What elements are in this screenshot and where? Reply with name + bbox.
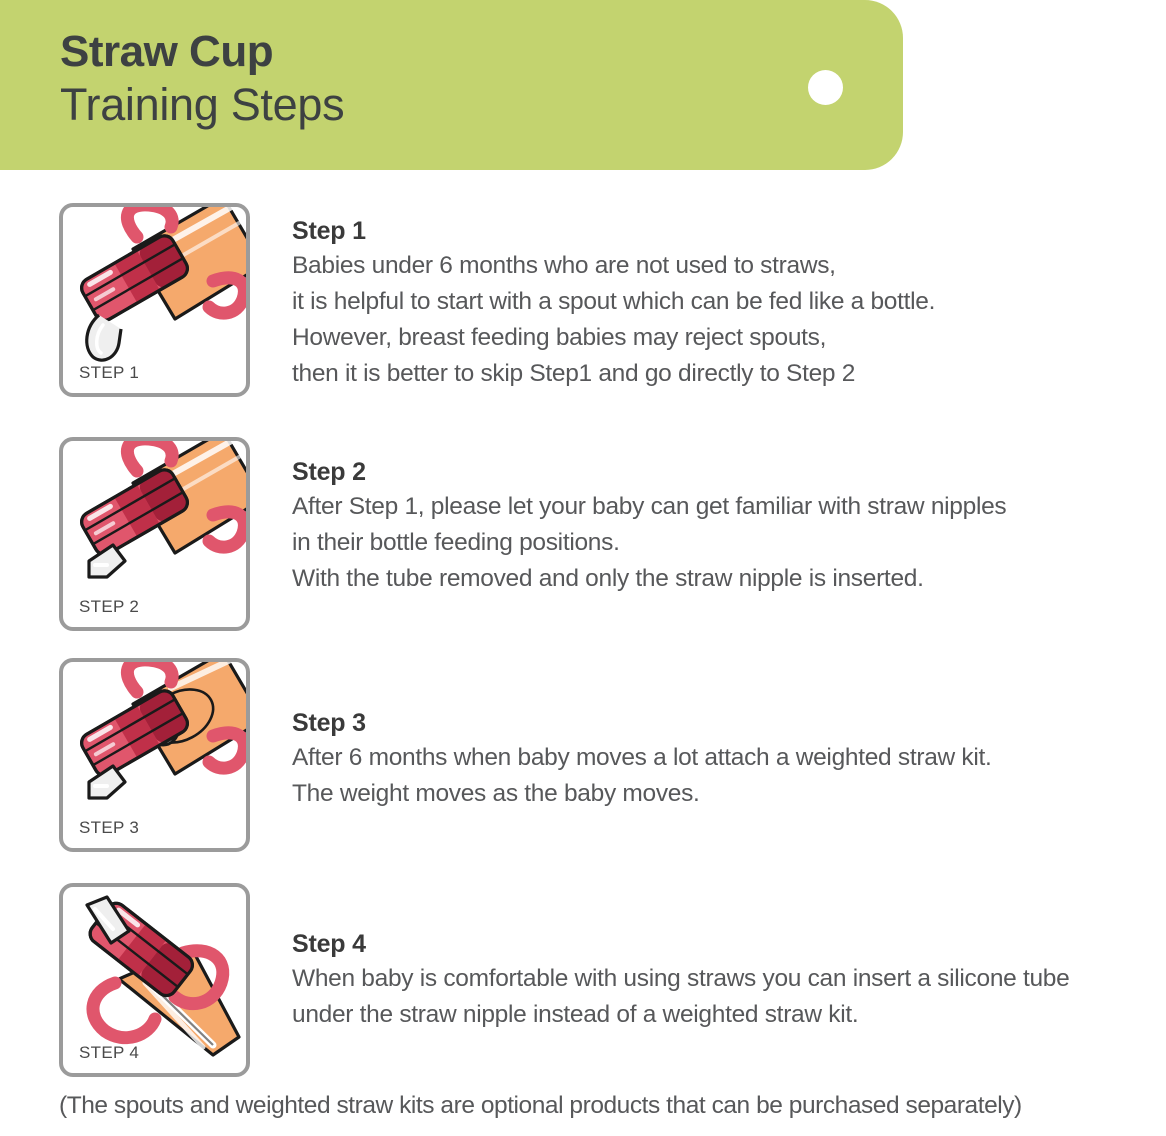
step-2-heading: Step 2 xyxy=(292,455,1006,489)
step-4-text-block: Step 4 When baby is comfortable with usi… xyxy=(292,927,1069,1033)
step-4-line: When baby is comfortable with using stra… xyxy=(292,961,1069,997)
step-3-text-block: Step 3 After 6 months when baby moves a … xyxy=(292,706,992,812)
page-subtitle: Training Steps xyxy=(60,78,344,132)
step-3-line: The weight moves as the baby moves. xyxy=(292,776,992,812)
step-1-line: it is helpful to start with a spout whic… xyxy=(292,284,935,320)
step-3-line: After 6 months when baby moves a lot att… xyxy=(292,740,992,776)
banner-title-group: Straw Cup Training Steps xyxy=(60,26,344,132)
step-1-line: However, breast feeding babies may rejec… xyxy=(292,320,935,356)
step-1-line: then it is better to skip Step1 and go d… xyxy=(292,356,935,392)
step-3-icon-label: STEP 3 xyxy=(79,818,139,838)
step-4-line: under the straw nipple instead of a weig… xyxy=(292,997,1069,1033)
step-1-icon-box: STEP 1 xyxy=(59,203,250,397)
step-2-text-block: Step 2 After Step 1, please let your bab… xyxy=(292,455,1006,597)
footnote-text: (The spouts and weighted straw kits are … xyxy=(59,1092,1022,1120)
step-2-line: With the tube removed and only the straw… xyxy=(292,561,1006,597)
step-3-icon-box: STEP 3 xyxy=(59,658,250,852)
step-2-icon-box: STEP 2 xyxy=(59,437,250,631)
step-2-icon-label: STEP 2 xyxy=(79,597,139,617)
page-title: Straw Cup xyxy=(60,26,344,78)
step-1-text-block: Step 1 Babies under 6 months who are not… xyxy=(292,214,935,392)
step-4-icon-box: STEP 4 xyxy=(59,883,250,1077)
header-banner: Straw Cup Training Steps xyxy=(0,0,903,170)
step-2-line: in their bottle feeding positions. xyxy=(292,525,1006,561)
step-1-icon-label: STEP 1 xyxy=(79,363,139,383)
step-1-line: Babies under 6 months who are not used t… xyxy=(292,248,935,284)
step-4-heading: Step 4 xyxy=(292,927,1069,961)
infographic-page: Straw Cup Training Steps xyxy=(0,0,1166,1136)
step-2-line: After Step 1, please let your baby can g… xyxy=(292,489,1006,525)
step-3-heading: Step 3 xyxy=(292,706,992,740)
step-1-heading: Step 1 xyxy=(292,214,935,248)
punch-hole-circle-icon xyxy=(808,70,843,105)
step-4-icon-label: STEP 4 xyxy=(79,1043,139,1063)
